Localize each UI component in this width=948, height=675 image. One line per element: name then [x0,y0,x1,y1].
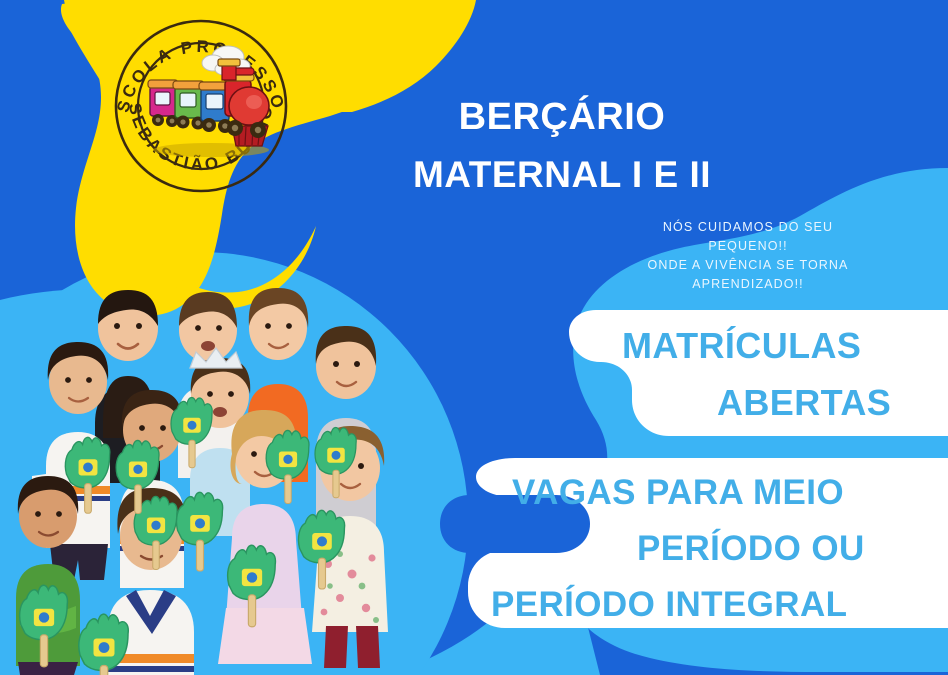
periods-line-3: PERÍODO INTEGRAL [491,585,847,625]
enrollment-line-1: MATRÍCULAS [622,325,861,367]
periods-line-2: PERÍODO OU [637,529,865,569]
periods-line-1: VAGAS PARA MEIO [512,473,844,513]
promotional-poster: ESCOLA PROFESSOR SEBASTIÃO BUENO [0,0,948,675]
enrollment-line-2: ABERTAS [717,382,891,424]
group-of-children-photo [0,268,420,675]
